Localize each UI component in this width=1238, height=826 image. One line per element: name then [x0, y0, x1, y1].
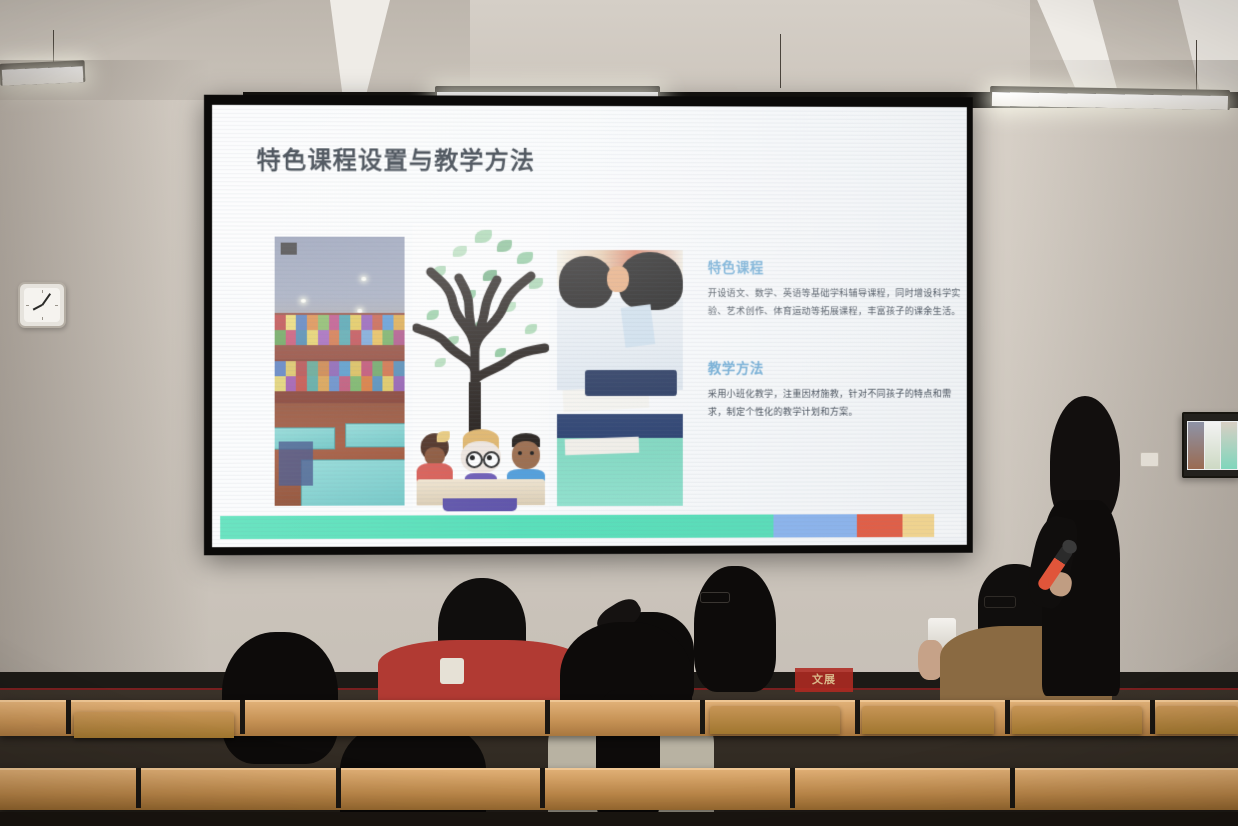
- chair-back[interactable]: [1156, 706, 1238, 734]
- floor-shadow: [0, 812, 1238, 826]
- banner-text: 文展: [795, 668, 853, 692]
- chair-back[interactable]: [74, 712, 234, 738]
- wall-socket: [1140, 452, 1159, 467]
- presenter: [1020, 396, 1126, 696]
- slide-surface: 特色课程设置与教学方法: [212, 105, 967, 547]
- footer-segment-blue: [773, 514, 856, 537]
- monitor-thumb: [1205, 422, 1221, 469]
- section-teaching-methods: 教学方法 采用小班化教学，注重因材施教，针对不同孩子的特点和需求，制定个性化的教…: [708, 357, 961, 421]
- footer-segment-yellow: [903, 514, 934, 537]
- section-special-courses: 特色课程 开设语文、数学、英语等基础学科辅导课程，同时增设科学实验、艺术创作、体…: [708, 256, 961, 320]
- chair-back[interactable]: [710, 706, 840, 734]
- monitor-thumb: [1221, 422, 1237, 469]
- wall-clock: [18, 282, 66, 328]
- lecture-hall-screenshot: 特色课程设置与教学方法: [0, 0, 1238, 826]
- section-heading: 特色课程: [708, 256, 961, 276]
- slide-title: 特色课程设置与教学方法: [257, 140, 536, 176]
- photo-children-studying: [557, 250, 683, 506]
- clock-face: [24, 288, 60, 322]
- monitor-screen: [1187, 421, 1238, 470]
- red-banner: 文展: [795, 668, 853, 692]
- book-stand: [443, 498, 517, 511]
- footer-segment-teal: [220, 515, 773, 540]
- footer-segment-white: [934, 514, 961, 537]
- monitor-thumb: [1188, 422, 1204, 469]
- photo-tree-children-illustration: [413, 224, 549, 512]
- audience-person: [222, 632, 338, 764]
- light-wire: [53, 30, 54, 64]
- footer-segment-red: [857, 514, 903, 537]
- slide-text-column: 特色课程 开设语文、数学、英语等基础学科辅导课程，同时增设科学实验、艺术创作、体…: [708, 256, 961, 421]
- hair-clip: [440, 658, 464, 684]
- glasses-icon: [984, 596, 1016, 608]
- chair-back[interactable]: [1012, 706, 1142, 734]
- glasses-icon: [700, 592, 730, 603]
- clock-minute-hand: [41, 293, 50, 305]
- wall-monitor[interactable]: [1182, 412, 1238, 478]
- desk-row: [0, 768, 1238, 810]
- chair-back[interactable]: [862, 706, 994, 734]
- section-body: 开设语文、数学、英语等基础学科辅导课程，同时增设科学实验、艺术创作、体育运动等拓…: [708, 285, 961, 320]
- audience-person-torso: [378, 640, 586, 704]
- light-wire: [780, 34, 781, 88]
- section-heading: 教学方法: [708, 357, 961, 377]
- wall-shadow-left: [0, 60, 210, 720]
- clock-hour-hand: [33, 304, 43, 310]
- audience-person: [694, 566, 776, 692]
- section-body: 采用小班化教学，注重因材施教，针对不同孩子的特点和需求，制定个性化的教学计划和方…: [708, 386, 961, 421]
- tree-icon: [413, 232, 549, 433]
- slide-photo-group: [275, 224, 683, 512]
- projection-screen[interactable]: 特色课程设置与教学方法: [204, 95, 973, 556]
- slide-footer-color-bar: [220, 514, 961, 539]
- photo-library-reading-room: [275, 237, 405, 506]
- ceiling-panel: [470, 0, 1030, 98]
